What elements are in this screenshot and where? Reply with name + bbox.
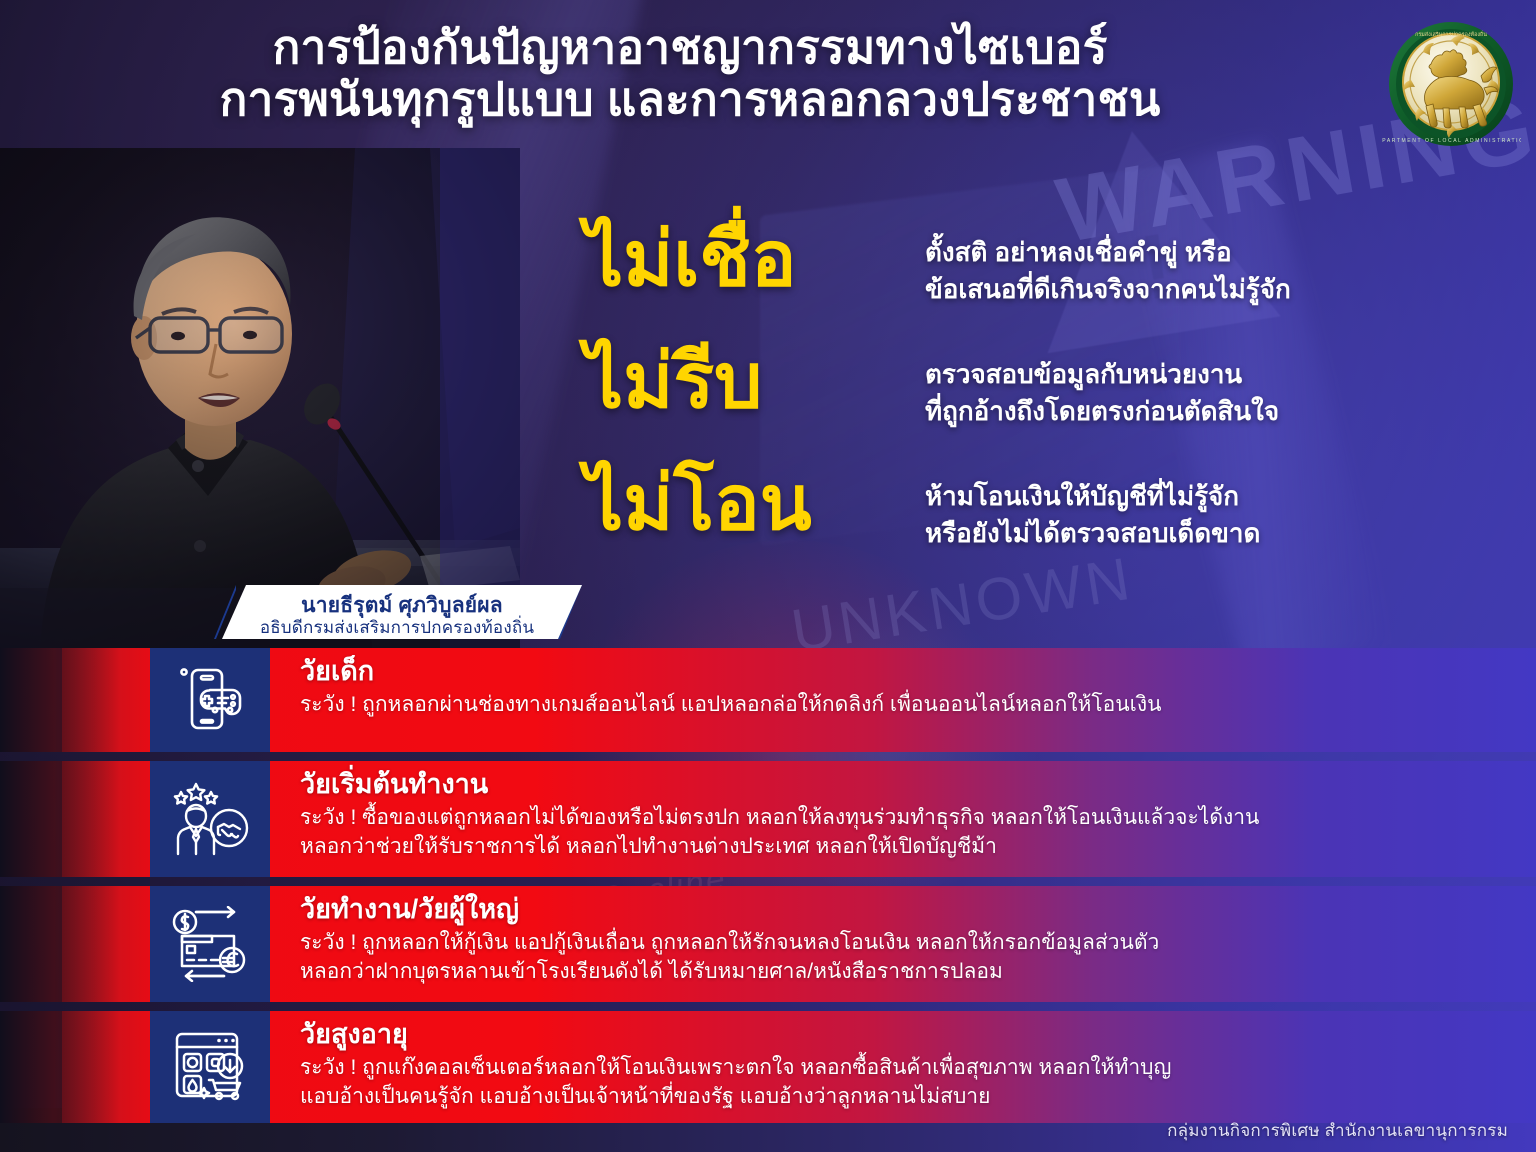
slogan-desc-3-line-1: ห้ามโอนเงินให้บัญชีที่ไม่รู้จัก	[925, 478, 1515, 515]
online-shopping-browser-icon	[150, 1011, 270, 1123]
row-title: วัยเริ่มต้นทำงาน	[300, 761, 1506, 800]
speaker-portrait-photo	[0, 148, 520, 648]
speaker-nameplate: นายธีรุตม์ ศุภวิบูลย์ผล อธิบดีกรมส่งเสริ…	[222, 585, 582, 639]
footer-credit: กลุ่มงานกิจการพิเศษ สำนักงานเลขานุการกรม	[1167, 1117, 1508, 1144]
row-text-block: วัยทำงาน/วัยผู้ใหญ่ ระวัง ! ถูกหลอกให้กู…	[300, 886, 1506, 1002]
slogan-key-2: ไม่รีบ	[585, 344, 905, 420]
slogan-row-1: ไม่เชื่อ ตั้งสติ อย่าหลงเชื่อคำขู่ หรือ …	[585, 222, 1515, 344]
row-desc-line-2: แอบอ้างเป็นคนรู้จัก แอบอ้างเป็นเจ้าหน้าท…	[300, 1083, 1506, 1112]
slogan-key-1: ไม่เชื่อ	[585, 222, 905, 298]
row-description: ระวัง ! ถูกหลอกผ่านช่องทางเกมส์ออนไลน์ แ…	[300, 687, 1506, 720]
row-text-block: วัยเด็ก ระวัง ! ถูกหลอกผ่านช่องทางเกมส์อ…	[300, 648, 1506, 752]
row-description: ระวัง ! ถูกแก๊งคอลเซ็นเตอร์หลอกให้โอนเงิ…	[300, 1050, 1506, 1112]
slogan-desc-1: ตั้งสติ อย่าหลงเชื่อคำขู่ หรือ ข้อเสนอที…	[925, 234, 1515, 308]
title-line-2: การพนันทุกรูปแบบ และการหลอกลวงประชาชน	[0, 74, 1380, 126]
speaker-role: อธิบดีกรมส่งเสริมการปกครองท้องถิ่น	[222, 614, 572, 641]
age-row-early-career: วัยเริ่มต้นทำงาน ระวัง ! ซื้อของแต่ถูกหล…	[0, 761, 1536, 877]
age-row-child: วัยเด็ก ระวัง ! ถูกหลอกผ่านช่องทางเกมส์อ…	[0, 648, 1536, 752]
row-left-fade	[0, 1011, 120, 1123]
slogan-desc-2-line-1: ตรวจสอบข้อมูลกับหน่วยงาน	[925, 356, 1515, 393]
slogan-desc-2-line-2: ที่ถูกอ้างถึงโดยตรงก่อนตัดสินใจ	[925, 393, 1515, 430]
row-description: ระวัง ! ถูกหลอกให้กู้เงิน แอปกู้เงินเถื่…	[300, 925, 1506, 987]
slogan-desc-3: ห้ามโอนเงินให้บัญชีที่ไม่รู้จัก หรือยังไ…	[925, 478, 1515, 552]
slogan-desc-1-line-2: ข้อเสนอที่ดีเกินจริงจากคนไม่รู้จัก	[925, 271, 1515, 308]
businessman-stars-handshake-icon	[150, 761, 270, 877]
row-desc-line-1: ระวัง ! ถูกหลอกผ่านช่องทางเกมส์ออนไลน์ แ…	[300, 691, 1506, 720]
infographic-poster: WARNING UNKNOWN Decline Accept	[0, 0, 1536, 1152]
slogan-block: ไม่เชื่อ ตั้งสติ อย่าหลงเชื่อคำขู่ หรือ …	[585, 222, 1515, 588]
svg-text:กรมส่งเสริมการปกครองท้องถิ่น: กรมส่งเสริมการปกครองท้องถิ่น	[1415, 30, 1487, 38]
row-description: ระวัง ! ซื้อของแต่ถูกหลอกไม่ได้ของหรือไม…	[300, 800, 1506, 862]
row-text-block: วัยสูงอายุ ระวัง ! ถูกแก๊งคอลเซ็นเตอร์หล…	[300, 1011, 1506, 1123]
row-title: วัยเด็ก	[300, 648, 1506, 687]
row-title: วัยสูงอายุ	[300, 1011, 1506, 1050]
row-left-fade	[0, 648, 120, 752]
slogan-row-2: ไม่รีบ ตรวจสอบข้อมูลกับหน่วยงาน ที่ถูกอ้…	[585, 344, 1515, 466]
row-left-fade	[0, 761, 120, 877]
row-desc-line-1: ระวัง ! ถูกแก๊งคอลเซ็นเตอร์หลอกให้โอนเงิ…	[300, 1054, 1506, 1083]
row-desc-line-1: ระวัง ! ซื้อของแต่ถูกหลอกไม่ได้ของหรือไม…	[300, 804, 1506, 833]
row-title: วัยทำงาน/วัยผู้ใหญ่	[300, 886, 1506, 925]
slogan-desc-3-line-2: หรือยังไม่ได้ตรวจสอบเด็ดขาด	[925, 515, 1515, 552]
slogan-desc-1-line-1: ตั้งสติ อย่าหลงเชื่อคำขู่ หรือ	[925, 234, 1515, 271]
slogan-desc-2: ตรวจสอบข้อมูลกับหน่วยงาน ที่ถูกอ้างถึงโด…	[925, 356, 1515, 430]
mobile-game-controller-icon	[150, 648, 270, 752]
poster-header: การป้องกันปัญหาอาชญากรรมทางไซเบอร์ การพน…	[0, 0, 1536, 150]
page-title: การป้องกันปัญหาอาชญากรรมทางไซเบอร์ การพน…	[0, 22, 1380, 125]
age-row-elderly: วัยสูงอายุ ระวัง ! ถูกแก๊งคอลเซ็นเตอร์หล…	[0, 1011, 1536, 1123]
row-desc-line-2: หลอกว่าช่วยให้รับราชการได้ หลอกไปทำงานต่…	[300, 833, 1506, 862]
row-left-fade	[0, 886, 120, 1002]
slogan-row-3: ไม่โอน ห้ามโอนเงินให้บัญชีที่ไม่รู้จัก ห…	[585, 466, 1515, 588]
department-seal-logo: กรมส่งเสริมการปกครองท้องถิ่น DEPARTMENT …	[1381, 12, 1521, 152]
age-row-working-adult: วัยทำงาน/วัยผู้ใหญ่ ระวัง ! ถูกหลอกให้กู…	[0, 886, 1536, 1002]
svg-text:DEPARTMENT OF LOCAL ADMINISTRA: DEPARTMENT OF LOCAL ADMINISTRATION	[1381, 138, 1521, 144]
age-group-rows: วัยเด็ก ระวัง ! ถูกหลอกผ่านช่องทางเกมส์อ…	[0, 648, 1536, 1132]
row-desc-line-1: ระวัง ! ถูกหลอกให้กู้เงิน แอปกู้เงินเถื่…	[300, 929, 1506, 958]
title-line-1: การป้องกันปัญหาอาชญากรรมทางไซเบอร์	[0, 22, 1380, 74]
row-text-block: วัยเริ่มต้นทำงาน ระวัง ! ซื้อของแต่ถูกหล…	[300, 761, 1506, 877]
slogan-key-3: ไม่โอน	[585, 466, 905, 542]
money-transfer-dollar-euro-icon	[150, 886, 270, 1002]
row-desc-line-2: หลอกว่าฝากบุตรหลานเข้าโรงเรียนดังได้ ได้…	[300, 958, 1506, 987]
